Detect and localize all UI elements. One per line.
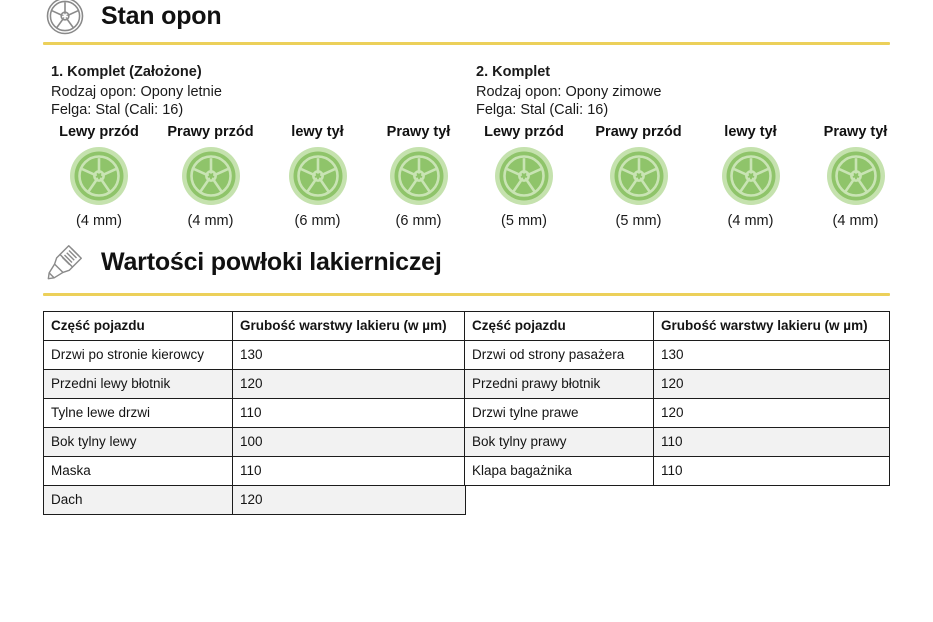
wheel-tread-depth: (6 mm): [267, 213, 368, 229]
wheel-tread-depth: (4 mm): [698, 213, 803, 229]
wheel-tread-depth: (4 mm): [154, 213, 267, 229]
cell-part: Drzwi tylne prawe: [465, 399, 654, 428]
cell-part: Bok tylny lewy: [44, 428, 233, 457]
wheel-cell: Prawy tył (6 mm): [368, 124, 469, 229]
wheel-icon: [826, 146, 886, 206]
cell-thickness: 120: [654, 399, 890, 428]
wheel-icon: [69, 146, 129, 206]
cell-thickness: 110: [654, 428, 890, 457]
tire-set-1-title: 1. Komplet (Założone): [51, 63, 222, 82]
column-header-thickness: Grubość warstwy lakieru (w µm): [233, 312, 466, 341]
cell-part: Dach: [44, 486, 233, 515]
wheel-icon: [181, 146, 241, 206]
wheel-position-label: Lewy przód: [44, 124, 154, 140]
cell-part: Drzwi od strony pasażera: [465, 341, 654, 370]
wheel-tread-depth: (6 mm): [368, 213, 469, 229]
cell-thickness: 110: [654, 457, 890, 486]
cell-part: Drzwi po stronie kierowcy: [44, 341, 233, 370]
paint-section-header: Wartości powłoki lakierniczej: [43, 242, 442, 282]
wheel-cell: Prawy przód (4 mm): [154, 124, 267, 229]
wheel-tread-depth: (5 mm): [469, 213, 579, 229]
wheel-cell: Prawy przód (5 mm): [579, 124, 698, 229]
table-row: Klapa bagażnika 110: [465, 457, 890, 486]
table-row: Drzwi po stronie kierowcy 130: [44, 341, 466, 370]
tire-set-2-info: 2. Komplet Rodzaj opon: Opony zimowe Fel…: [476, 63, 661, 120]
wheel-icon: [609, 146, 669, 206]
table-row: Bok tylny prawy 110: [465, 428, 890, 457]
cell-part: Tylne lewe drzwi: [44, 399, 233, 428]
paint-section-title: Wartości powłoki lakierniczej: [101, 248, 442, 277]
wheel-icon: [721, 146, 781, 206]
table-row-spacer: [465, 486, 890, 515]
wheel-tread-depth: (4 mm): [44, 213, 154, 229]
wheel-position-label: Prawy tył: [368, 124, 469, 140]
table-row: Przedni lewy błotnik 120: [44, 370, 466, 399]
wheel-icon: [494, 146, 554, 206]
tire-set-2-title: 2. Komplet: [476, 63, 661, 82]
tire-set-1-type: Rodzaj opon: Opony letnie: [51, 83, 222, 102]
wheel-icon: [288, 146, 348, 206]
table-row: Przedni prawy błotnik 120: [465, 370, 890, 399]
cell-thickness: 100: [233, 428, 466, 457]
wheel-icon: [389, 146, 449, 206]
table-header-row: Część pojazdu Grubość warstwy lakieru (w…: [44, 312, 466, 341]
tires-section-title: Stan opon: [101, 2, 221, 31]
paint-table-right: Część pojazdu Grubość warstwy lakieru (w…: [464, 311, 890, 514]
wheel-cell: lewy tył (4 mm): [698, 124, 803, 229]
paintbrush-icon: [43, 242, 87, 282]
wheel-position-label: Prawy przód: [154, 124, 267, 140]
wheel-position-label: Lewy przód: [469, 124, 579, 140]
wheel-cell: Prawy tył (4 mm): [803, 124, 908, 229]
cell-thickness: 110: [233, 457, 466, 486]
wheel-tread-depth: (5 mm): [579, 213, 698, 229]
cell-thickness: 120: [233, 370, 466, 399]
paint-table-left: Część pojazdu Grubość warstwy lakieru (w…: [43, 311, 466, 515]
table-row: Dach 120: [44, 486, 466, 515]
table-row: Tylne lewe drzwi 110: [44, 399, 466, 428]
empty-cell: [465, 486, 654, 515]
wheel-position-label: lewy tył: [267, 124, 368, 140]
tires-section-header: Stan opon: [43, 0, 221, 36]
tires-section-divider: [43, 42, 890, 45]
wheel-cell: Lewy przód (5 mm): [469, 124, 579, 229]
cell-thickness: 130: [654, 341, 890, 370]
cell-part: Klapa bagażnika: [465, 457, 654, 486]
wheel-icon: [43, 0, 87, 36]
table-row: Bok tylny lewy 100: [44, 428, 466, 457]
wheel-tread-depth: (4 mm): [803, 213, 908, 229]
table-row: Drzwi od strony pasażera 130: [465, 341, 890, 370]
column-header-thickness: Grubość warstwy lakieru (w µm): [654, 312, 890, 341]
tire-set-2-rim: Felga: Stal (Cali: 16): [476, 101, 661, 120]
cell-thickness: 120: [654, 370, 890, 399]
cell-thickness: 130: [233, 341, 466, 370]
cell-part: Maska: [44, 457, 233, 486]
column-header-part: Część pojazdu: [44, 312, 233, 341]
cell-part: Bok tylny prawy: [465, 428, 654, 457]
wheel-position-label: lewy tył: [698, 124, 803, 140]
tire-set-2-wheels: Lewy przód (5 mm) Prawy p: [469, 124, 908, 229]
wheel-position-label: Prawy tył: [803, 124, 908, 140]
cell-part: Przedni prawy błotnik: [465, 370, 654, 399]
tire-set-1-wheels: Lewy przód (4 mm) Prawy p: [44, 124, 469, 229]
cell-thickness: 120: [233, 486, 466, 515]
table-header-row: Część pojazdu Grubość warstwy lakieru (w…: [465, 312, 890, 341]
tire-set-1-rim: Felga: Stal (Cali: 16): [51, 101, 222, 120]
table-row: Drzwi tylne prawe 120: [465, 399, 890, 428]
table-row: Maska 110: [44, 457, 466, 486]
wheel-cell: lewy tył (6 mm): [267, 124, 368, 229]
column-header-part: Część pojazdu: [465, 312, 654, 341]
empty-cell: [654, 486, 890, 515]
cell-thickness: 110: [233, 399, 466, 428]
wheel-cell: Lewy przód (4 mm): [44, 124, 154, 229]
cell-part: Przedni lewy błotnik: [44, 370, 233, 399]
tire-set-2-type: Rodzaj opon: Opony zimowe: [476, 83, 661, 102]
tire-set-1-info: 1. Komplet (Założone) Rodzaj opon: Opony…: [51, 63, 222, 120]
paint-section-divider: [43, 293, 890, 296]
wheel-position-label: Prawy przód: [579, 124, 698, 140]
